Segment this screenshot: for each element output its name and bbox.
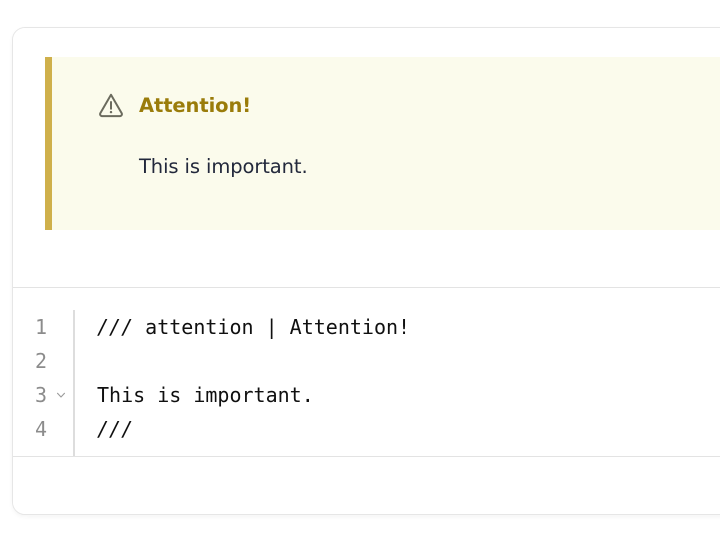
code-line[interactable]: ///	[97, 412, 720, 446]
admonition-header: Attention!	[97, 91, 251, 119]
code-token-fence: ///	[97, 315, 133, 339]
line-number: 1	[35, 310, 47, 344]
gutter-row: 3	[13, 378, 73, 412]
code-line[interactable]	[97, 344, 720, 378]
gutter-row: 1	[13, 310, 73, 344]
markdown-preview-card: Attention! This is important. 1234 /// a…	[12, 27, 720, 515]
gutter-row: 2	[13, 344, 73, 378]
editor-gutter: 1234	[13, 310, 75, 456]
line-number: 4	[35, 412, 47, 446]
markdown-source-editor[interactable]: 1234 /// attention | Attention!This is i…	[13, 288, 720, 456]
editor-code-area[interactable]: /// attention | Attention!This is import…	[97, 310, 720, 456]
code-token-plain: attention | Attention!	[133, 315, 410, 339]
line-number: 3	[35, 378, 47, 412]
code-line[interactable]: /// attention | Attention!	[97, 310, 720, 344]
warning-triangle-icon	[97, 91, 125, 119]
gutter-row: 4	[13, 412, 73, 446]
rendered-preview-pane: Attention! This is important.	[13, 28, 720, 287]
admonition-title: Attention!	[139, 94, 251, 117]
code-token-plain: This is important.	[97, 383, 314, 407]
code-token-fence: ///	[97, 417, 133, 441]
chevron-down-icon[interactable]	[55, 389, 67, 401]
admonition-body-text: This is important.	[139, 155, 308, 178]
code-line[interactable]: This is important.	[97, 378, 720, 412]
line-number: 2	[35, 344, 47, 378]
attention-admonition: Attention! This is important.	[45, 57, 720, 230]
editor-footer-strip	[13, 457, 720, 514]
